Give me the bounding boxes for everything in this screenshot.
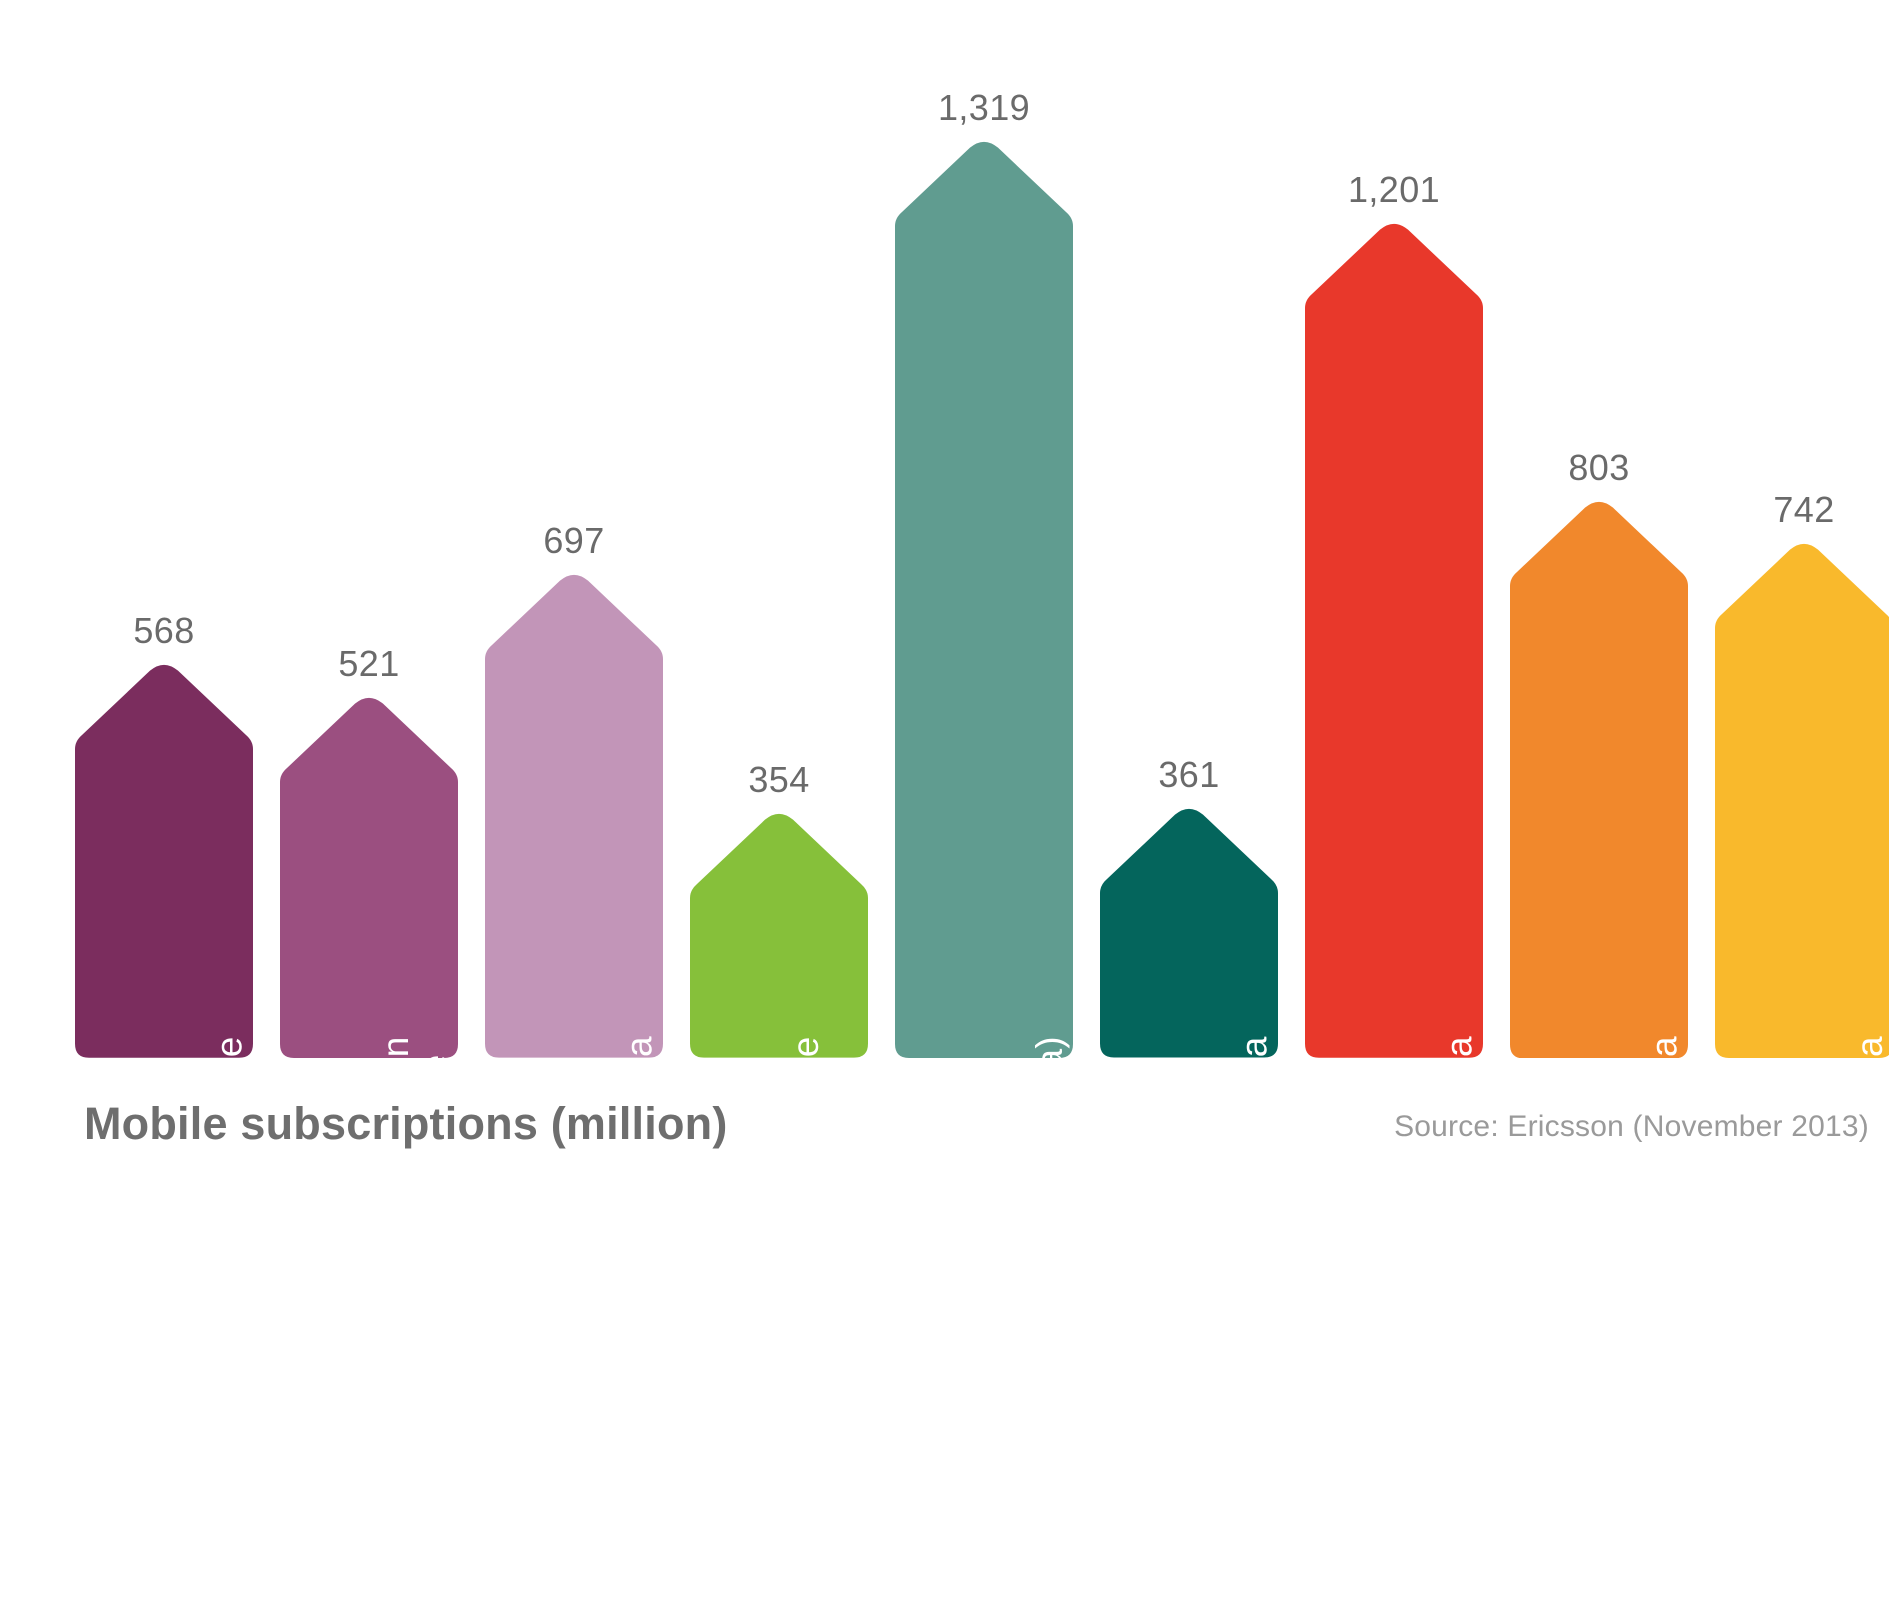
bar-group[interactable]: India742 <box>1715 471 1889 1058</box>
bar-group[interactable]: Central & Eastern Europe568 <box>75 592 253 1058</box>
bar-group[interactable]: Latin America697 <box>485 502 663 1058</box>
bar-shape[interactable] <box>895 139 1073 1058</box>
bar-value-label: 1,319 <box>895 87 1073 129</box>
chart-canvas: Central & Eastern Europe568Western Europ… <box>0 0 1889 1225</box>
bar-value-label: 697 <box>485 520 663 562</box>
bar-shape[interactable] <box>1510 499 1688 1058</box>
bar-value-label: 361 <box>1100 754 1278 796</box>
chart-source-note: Source: Ericsson (November 2013) <box>1394 1110 1869 1144</box>
bar-shape[interactable] <box>485 572 663 1058</box>
bar-group[interactable]: China1,201 <box>1305 151 1483 1058</box>
bar-group[interactable]: Western Europe521 <box>280 625 458 1058</box>
bar-group[interactable]: North America361 <box>1100 736 1278 1058</box>
chart-title: Mobile subscriptions (million) <box>84 1098 728 1150</box>
bar-value-label: 803 <box>1510 447 1688 489</box>
bar-chart-plot-area: Central & Eastern Europe568Western Europ… <box>0 0 1889 1058</box>
bar-shape[interactable] <box>690 811 868 1058</box>
bar-value-label: 568 <box>75 610 253 652</box>
bar-shape[interactable] <box>280 695 458 1058</box>
bar-shape[interactable] <box>1715 541 1889 1058</box>
bar-value-label: 354 <box>690 759 868 801</box>
bar-group[interactable]: Africa803 <box>1510 429 1688 1058</box>
bar-value-label: 742 <box>1715 489 1889 531</box>
chart-footer: Mobile subscriptions (million) Source: E… <box>0 1070 1889 1225</box>
bar-shape[interactable] <box>1100 806 1278 1058</box>
bar-value-label: 1,201 <box>1305 169 1483 211</box>
bar-group[interactable]: APAC (excluding China and India)1,319 <box>895 69 1073 1058</box>
bar-value-label: 521 <box>280 643 458 685</box>
bar-group[interactable]: Middle East354 <box>690 741 868 1058</box>
bar-shape[interactable] <box>1305 221 1483 1058</box>
bar-shape[interactable] <box>75 662 253 1058</box>
